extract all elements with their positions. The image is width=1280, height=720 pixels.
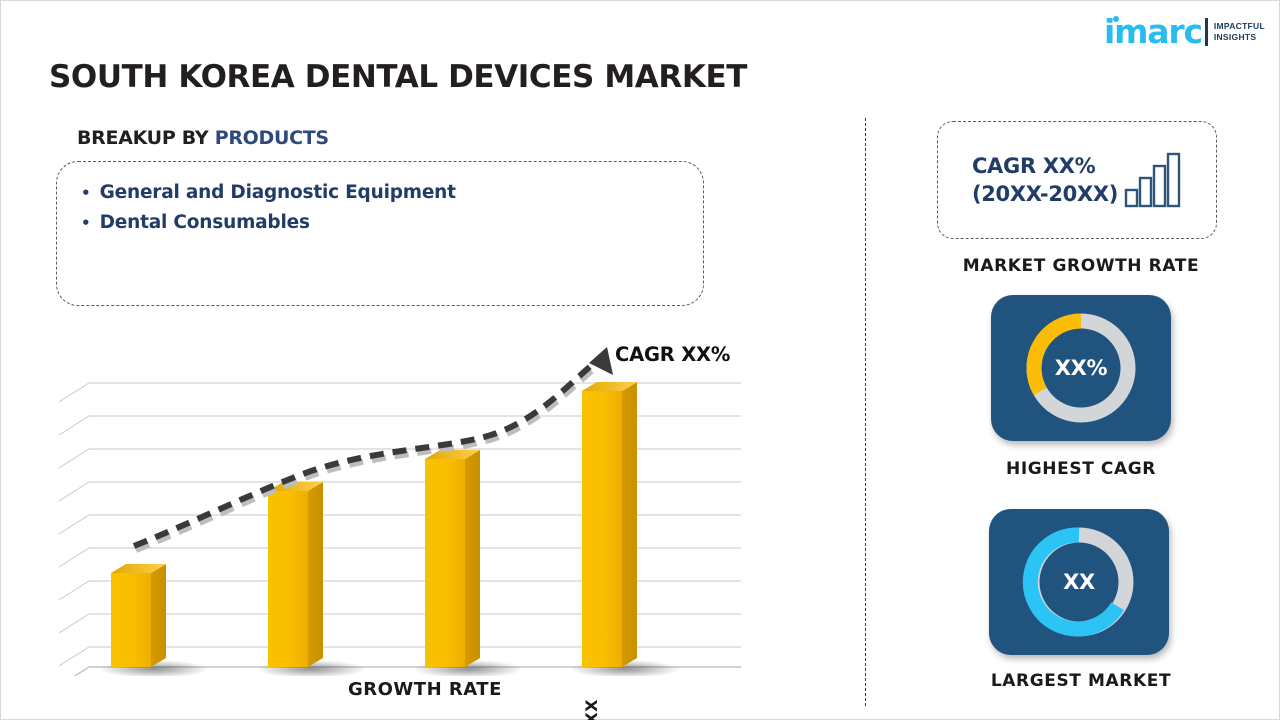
logo-tagline-line2: INSIGHTS: [1214, 32, 1265, 43]
bullet-icon: •: [81, 214, 90, 232]
list-item: • General and Diagnostic Equipment: [81, 178, 679, 208]
donut-center-value: XX%: [1019, 306, 1143, 430]
bar-4: [582, 382, 637, 667]
list-item-label: General and Diagnostic Equipment: [100, 182, 456, 203]
growth-rate-bar-chart: 20XX 20XX CAGR XX% GROWTH RATE: [41, 331, 761, 701]
chart-x-axis-label: GROWTH RATE: [348, 679, 502, 700]
infographic-page: imarc IMPACTFUL INSIGHTS SOUTH KOREA DEN…: [0, 0, 1280, 720]
breakup-highlight: PRODUCTS: [215, 127, 329, 149]
bar-4-year-label: 20XX: [582, 699, 601, 720]
list-item: • Dental Consumables: [81, 208, 679, 238]
bar-1: [111, 564, 166, 667]
bar-chart-icon: [1124, 152, 1182, 208]
vertical-divider: [865, 118, 866, 706]
page-title: SOUTH KOREA DENTAL DEVICES MARKET: [49, 59, 747, 95]
highest-cagr-card: XX%: [991, 295, 1171, 441]
logo-tagline: IMPACTFUL INSIGHTS: [1214, 21, 1265, 43]
bar-2: [268, 482, 323, 667]
cagr-line-1: CAGR XX%: [972, 152, 1118, 180]
imarc-logo: imarc IMPACTFUL INSIGHTS: [1104, 15, 1265, 49]
logo-dot-icon: [1113, 16, 1119, 22]
largest-market-card: XX: [989, 509, 1169, 655]
bar-3: [425, 450, 480, 667]
donut-chart: XX%: [1019, 306, 1143, 430]
donut-center-value: XX: [1017, 520, 1141, 644]
cagr-line-2: (20XX-20XX): [972, 180, 1118, 208]
market-growth-rate-label: MARKET GROWTH RATE: [901, 256, 1261, 276]
chart-cagr-annotation: CAGR XX%: [615, 343, 730, 366]
donut-chart: XX: [1017, 520, 1141, 644]
list-item-label: Dental Consumables: [100, 212, 310, 233]
logo-divider: [1205, 18, 1208, 46]
cagr-callout-box: CAGR XX% (20XX-20XX): [937, 121, 1217, 239]
breakup-prefix: BREAKUP BY: [77, 127, 208, 149]
bullet-icon: •: [81, 184, 90, 202]
kpi-panel: CAGR XX% (20XX-20XX) MARKET GROWTH RATE …: [901, 111, 1261, 711]
logo-tagline-line1: IMPACTFUL: [1214, 21, 1265, 32]
cagr-text: CAGR XX% (20XX-20XX): [972, 152, 1118, 208]
chart-canvas: [41, 331, 761, 676]
largest-market-label: LARGEST MARKET: [901, 671, 1261, 691]
segment-list-box: • General and Diagnostic Equipment • Den…: [56, 161, 704, 306]
breakup-heading: BREAKUP BY PRODUCTS: [77, 127, 329, 149]
highest-cagr-label: HIGHEST CAGR: [901, 459, 1261, 479]
